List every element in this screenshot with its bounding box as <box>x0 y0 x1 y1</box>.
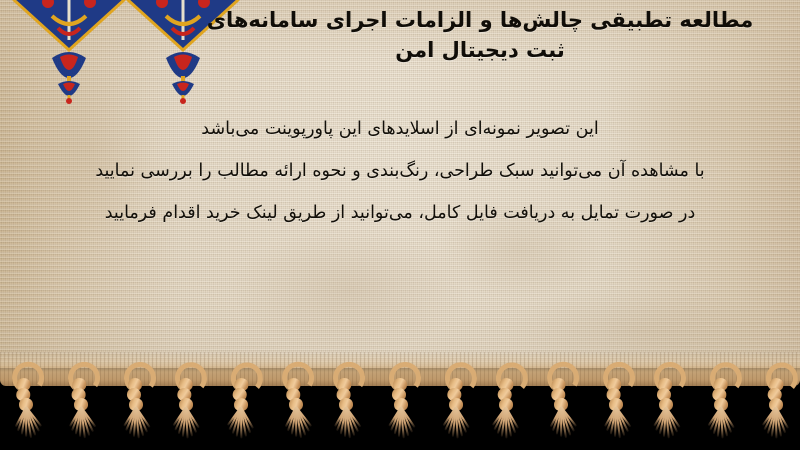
carpet-medallion-pendant-left <box>8 0 130 104</box>
presentation-slide: مطالعه تطبیقی چالش‌ها و الزامات اجرای سا… <box>0 0 800 450</box>
fringe-tassel <box>171 362 200 449</box>
fringe-tassel <box>652 362 678 448</box>
fringe-tassel <box>66 362 95 449</box>
fringe-tassel <box>387 362 413 448</box>
body-line-1: این تصویر نمونه‌ای از اسلایدهای این پاور… <box>20 108 780 150</box>
fringe-tassel <box>9 361 41 449</box>
fringe-tassel <box>279 361 311 449</box>
fringe-tassel <box>759 361 791 449</box>
fringe-tassel <box>544 361 576 449</box>
fringe-tassel <box>440 362 469 449</box>
fringe-tassel <box>122 362 148 448</box>
fringe-tassel <box>331 362 360 449</box>
body-line-3: در صورت تمایل به دریافت فایل کامل، می‌تو… <box>20 192 780 234</box>
fringe-tassel <box>224 361 256 449</box>
carpet-fringe <box>0 362 800 450</box>
fringe-tassel <box>489 361 521 449</box>
fringe-tassel <box>600 362 629 449</box>
body-line-2: با مشاهده آن می‌توانید سبک طراحی، رنگ‌بن… <box>20 150 780 192</box>
fringe-tassel <box>706 362 735 449</box>
slide-title: مطالعه تطبیقی چالش‌ها و الزامات اجرای سا… <box>200 6 760 66</box>
slide-body: این تصویر نمونه‌ای از اسلایدهای این پاور… <box>20 108 780 234</box>
